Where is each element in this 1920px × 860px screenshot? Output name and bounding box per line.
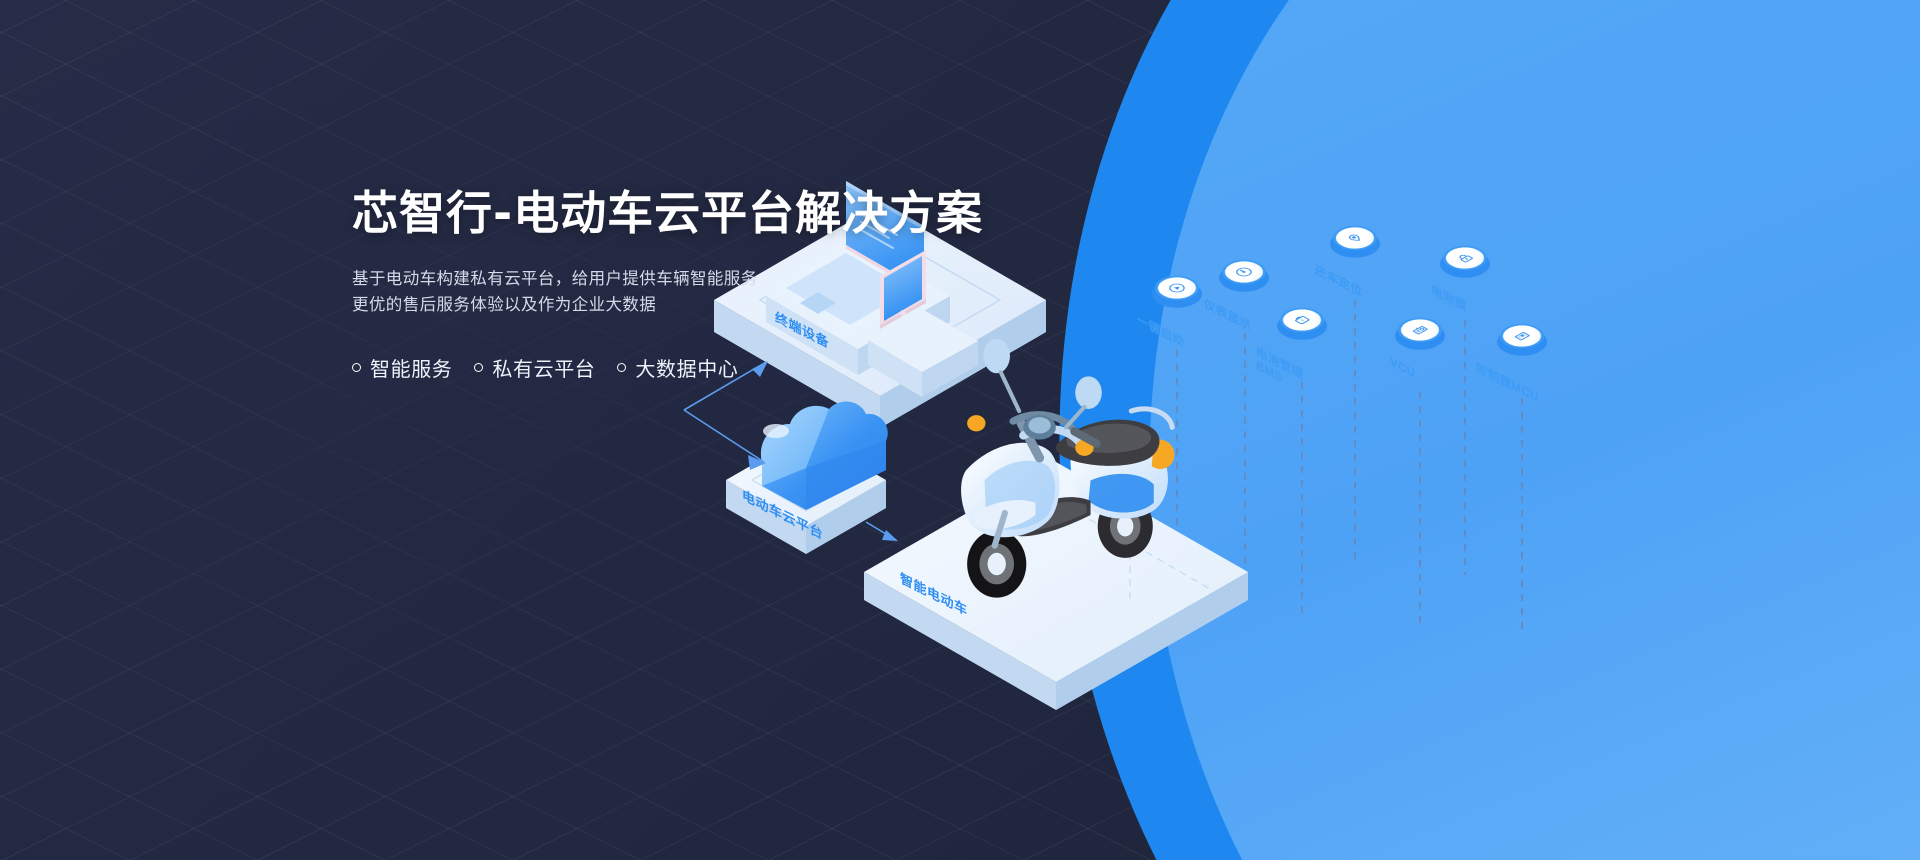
circle-outline-icon (352, 363, 361, 372)
feature-tag-label: 大数据中心 (635, 353, 738, 382)
chip-board-icon (1508, 328, 1536, 344)
subcopy-line-2: 更优的售后服务体验以及作为企业大数据 (352, 292, 1052, 319)
platform-label-cloud-platform: 电动车云平台 (742, 484, 823, 543)
feature-tag-list: 智能服务 私有云平台 大数据中心 (352, 353, 1052, 382)
feature-tag-label: 智能服务 (370, 353, 452, 382)
control-unit-icon (1406, 322, 1434, 338)
hero-copy: 芯智行-电动车云平台解决方案 基于电动车构建私有云平台，给用户提供车辆智能服务 … (352, 188, 1052, 382)
battery-case-icon (1288, 312, 1316, 328)
hero-subcopy: 基于电动车构建私有云平台，给用户提供车辆智能服务 更优的售后服务体验以及作为企业… (352, 266, 1052, 319)
wave-inner-shape (1113, 0, 1920, 860)
page-title: 芯智行-电动车云平台解决方案 (352, 188, 1052, 240)
circle-outline-icon (474, 363, 483, 372)
gauge-icon (1230, 264, 1258, 280)
hero-banner: 终端设备 电动车云平台 智能电动车 一键启动 (0, 0, 1920, 860)
feature-tag-private-cloud[interactable]: 私有云平台 (474, 353, 595, 382)
location-pin-icon (1341, 230, 1369, 246)
feature-tag-label: 私有云平台 (492, 353, 595, 382)
feature-tag-big-data-center[interactable]: 大数据中心 (617, 353, 738, 382)
power-play-icon (1163, 280, 1191, 296)
platform-label-smart-ev: 智能电动车 (900, 567, 968, 620)
circle-outline-icon (617, 363, 626, 372)
subcopy-line-1: 基于电动车构建私有云平台，给用户提供车辆智能服务 (352, 266, 1052, 293)
lock-icon (1451, 250, 1479, 266)
feature-tag-smart-service[interactable]: 智能服务 (352, 353, 452, 382)
